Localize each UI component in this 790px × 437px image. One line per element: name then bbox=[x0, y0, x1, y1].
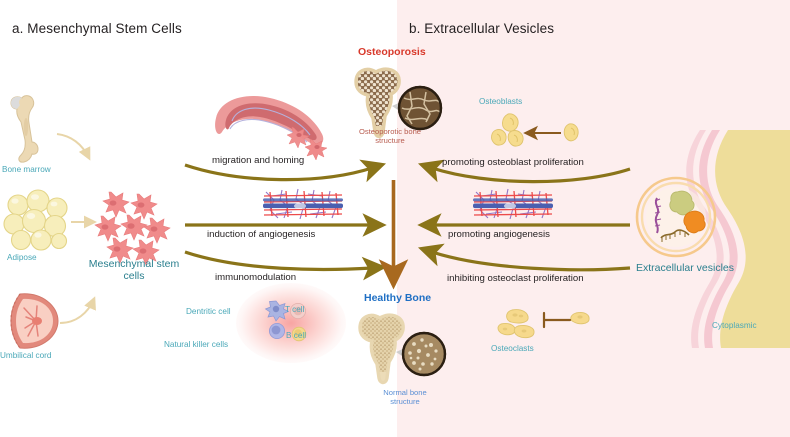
healthy-bone-title: Healthy Bone bbox=[364, 292, 431, 304]
figure-canvas: a. Mesenchymal Stem Cells b. Extracellul… bbox=[0, 0, 790, 437]
osteoporosis-title: Osteoporosis bbox=[358, 46, 426, 58]
osteoporotic-caption-line1: Osteoporotic bone bbox=[359, 127, 421, 136]
angiogenesis-network-right bbox=[472, 186, 554, 222]
msc-label: Mesenchymal stem cells bbox=[78, 258, 190, 282]
source-label-adipose: Adipose bbox=[7, 253, 37, 262]
healthy-bone-caption: Normal bone structure bbox=[355, 388, 455, 406]
msc-label-line1: Mesenchymal stem bbox=[89, 258, 179, 270]
osteoclast-cells-icon bbox=[498, 308, 544, 342]
process-label-inhibiting-osteoclast-proliferation: inhibiting osteoclast proliferation bbox=[447, 273, 584, 284]
osteoporotic-bone-caption: Osteoporotic bone structure bbox=[340, 127, 440, 145]
process-label-promoting-angiogenesis: promoting angiogenesis bbox=[448, 229, 550, 240]
extracellular-vesicle-icon bbox=[635, 176, 717, 258]
cytoplasmic-label: Cytoplasmic bbox=[712, 321, 757, 330]
osteoporotic-caption-line2: structure bbox=[375, 136, 405, 145]
immune-label-b-cell: B cell bbox=[286, 331, 306, 340]
source-label-umbilical-cord: Umbilical cord bbox=[0, 351, 51, 360]
osteoclasts-label: Osteoclasts bbox=[491, 344, 534, 353]
process-label-immunomodulation: immunomodulation bbox=[215, 272, 296, 283]
panel-title-right: b. Extracellular Vesicles bbox=[409, 21, 554, 36]
msc-label-line2: cells bbox=[123, 270, 144, 282]
arrow-inhibiting-osteoclast-proliferation bbox=[418, 246, 633, 276]
arrow-osteoblast-stimulation bbox=[524, 126, 564, 140]
umbilical-cord-icon bbox=[6, 290, 64, 352]
panel-title-left: a. Mesenchymal Stem Cells bbox=[12, 21, 182, 36]
angiogenesis-network-left bbox=[262, 186, 344, 222]
process-label-migration-and-homing: migration and homing bbox=[212, 155, 304, 166]
healthy-bone-icon bbox=[356, 308, 448, 386]
healthy-caption-line2: structure bbox=[390, 397, 420, 406]
arrow-umbilical-to-msc bbox=[58, 285, 106, 327]
immune-label-dentritic-cell: Dentritic cell bbox=[186, 307, 231, 316]
blood-vessel-icon bbox=[210, 90, 335, 152]
healthy-caption-line1: Normal bone bbox=[383, 388, 426, 397]
bone-marrow-icon bbox=[8, 92, 50, 164]
process-label-induction-of-angiogenesis: induction of angiogenesis bbox=[207, 229, 315, 240]
arrow-bone-marrow-to-msc bbox=[55, 130, 100, 172]
source-label-bone-marrow: Bone marrow bbox=[2, 165, 51, 174]
msc-cell-cluster bbox=[95, 188, 173, 266]
adipose-icon bbox=[4, 190, 70, 252]
process-label-promoting-osteoblast-proliferation: promoting osteoblast proliferation bbox=[442, 157, 584, 168]
osteoblast-single-cell-icon bbox=[562, 122, 580, 144]
immune-label-t-cell: T cell bbox=[285, 305, 304, 314]
inhibition-tbar-connector bbox=[541, 311, 573, 329]
immune-label-natural-killer-cells: Natural killer cells bbox=[164, 340, 228, 349]
extracellular-vesicles-label: Extracellular vesicles bbox=[627, 262, 743, 274]
osteoblasts-label: Osteoblasts bbox=[479, 97, 522, 106]
arrow-osteoporosis-to-healthy bbox=[384, 178, 404, 288]
